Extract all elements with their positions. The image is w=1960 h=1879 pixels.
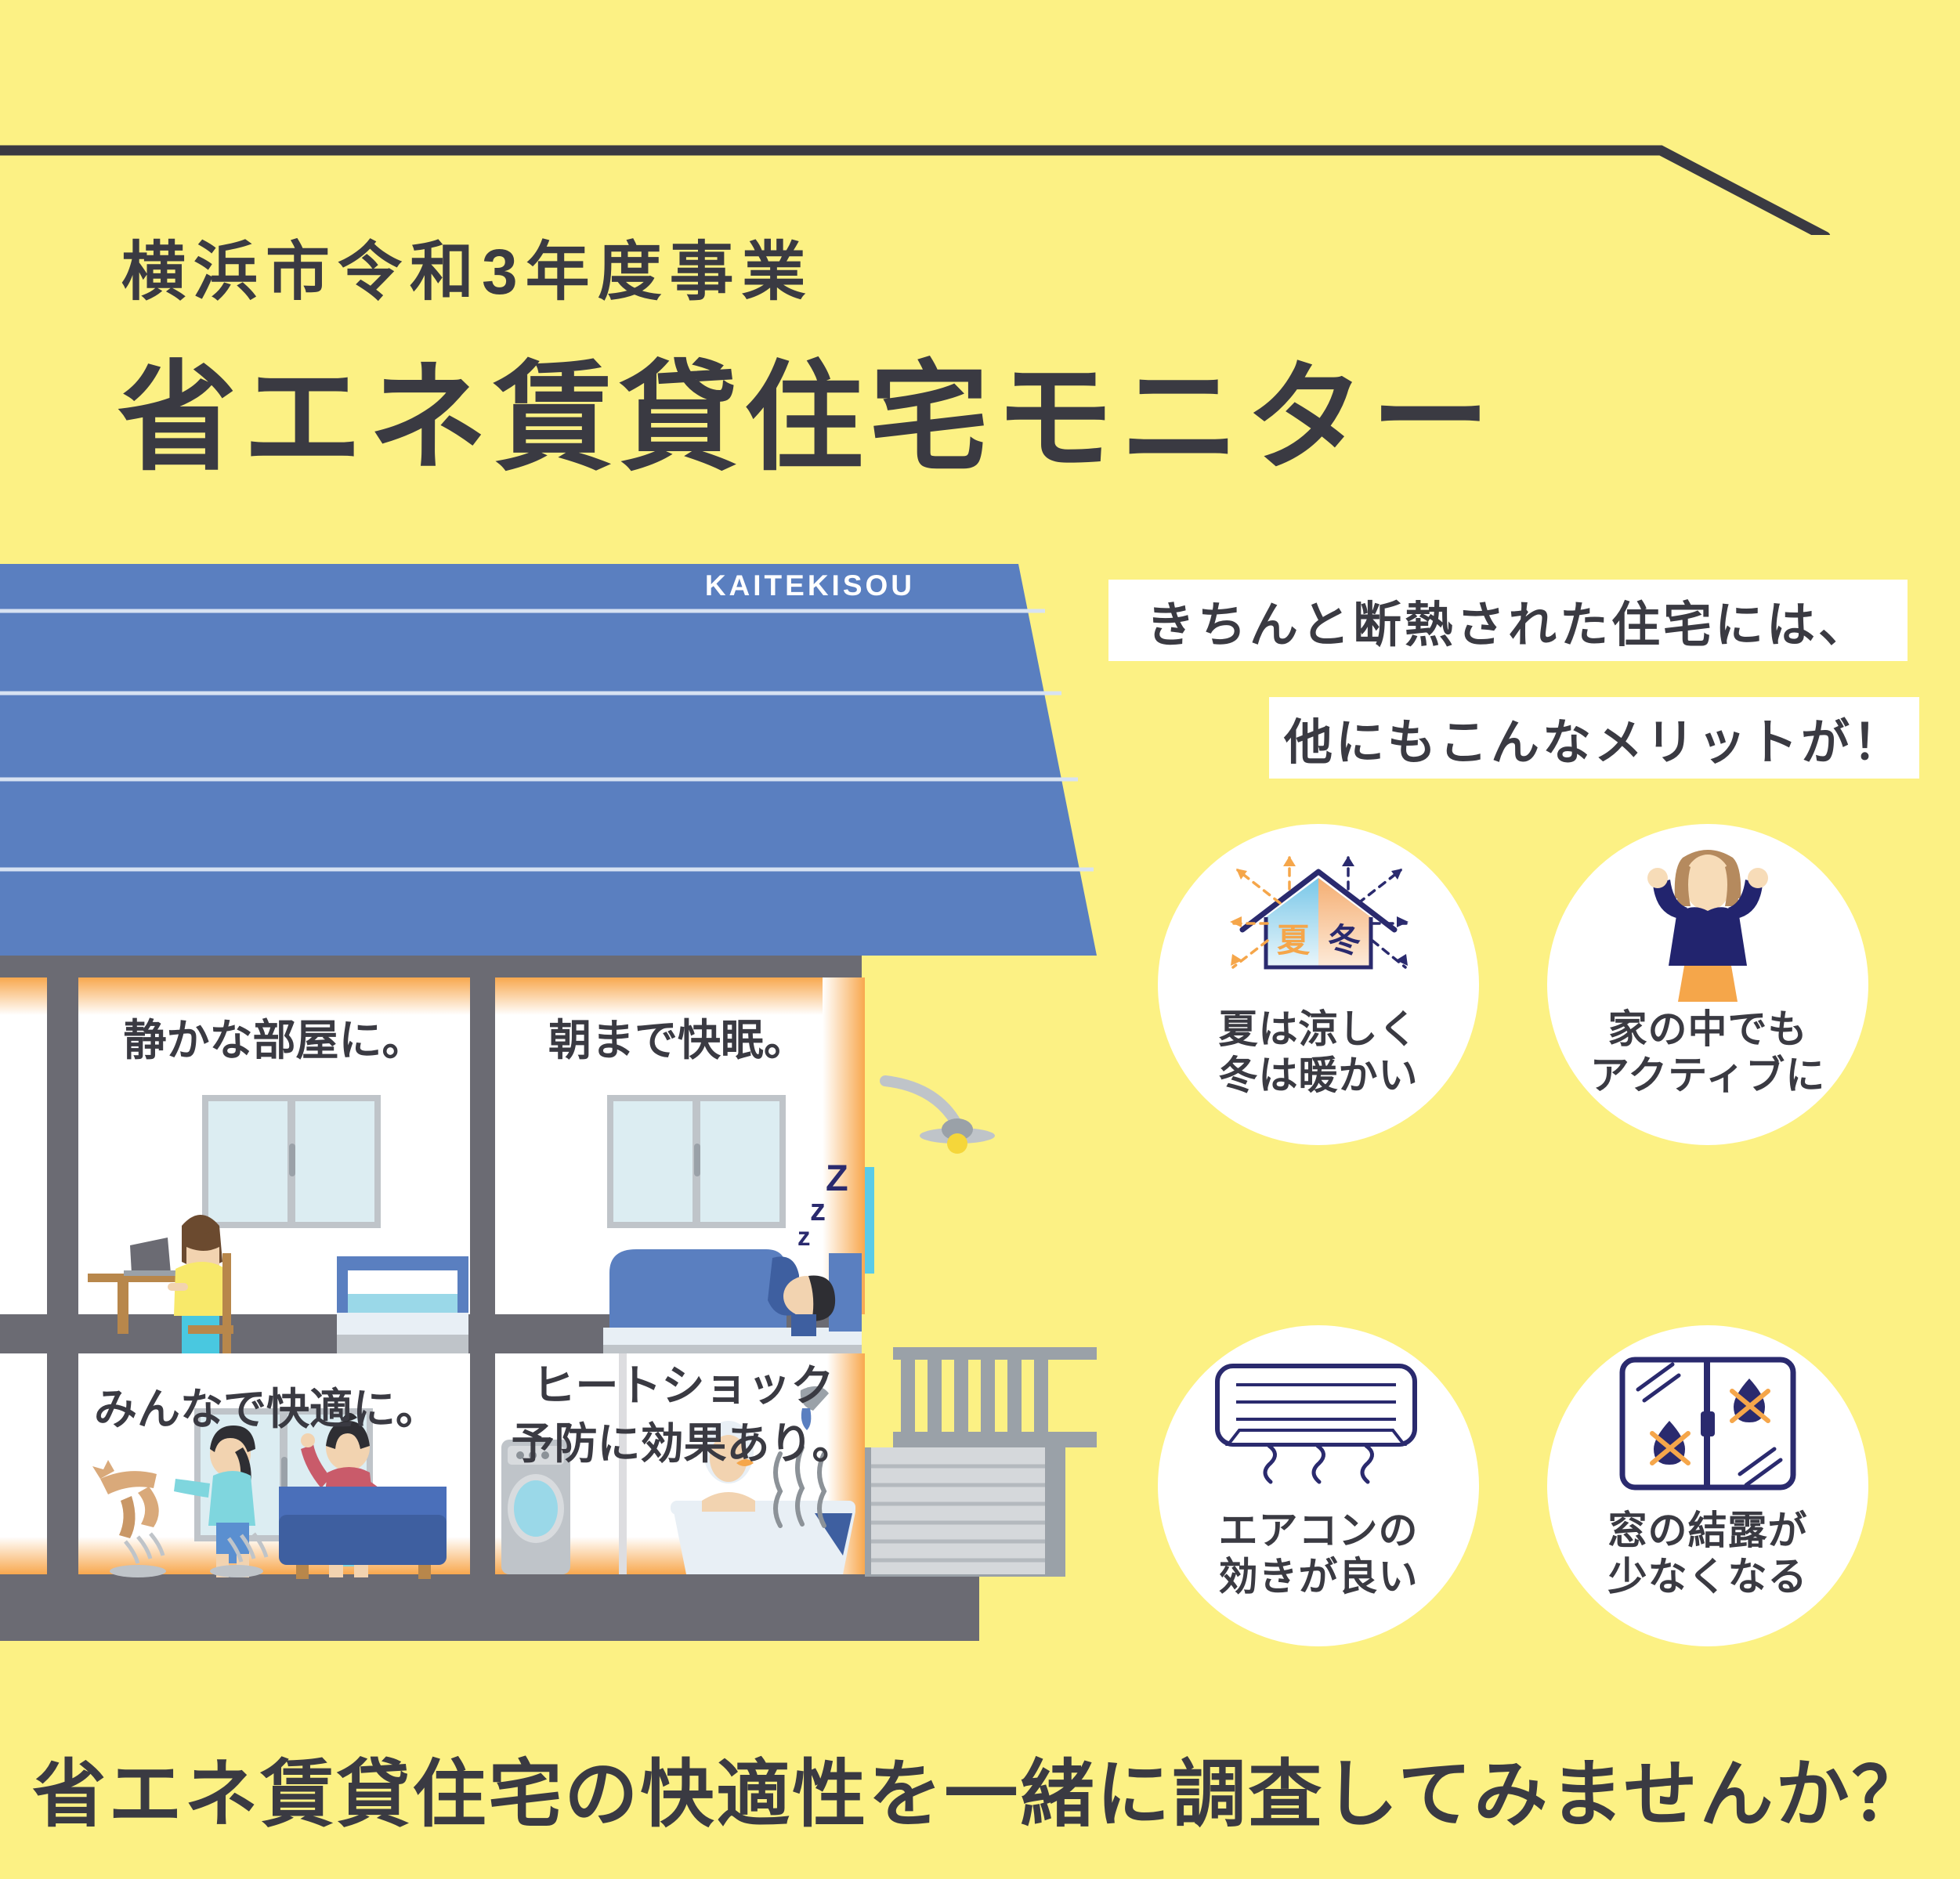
merits-headline-1: きちんと断熱された住宅には、 bbox=[1108, 580, 1908, 661]
room-study-label: 静かな部屋に。 bbox=[123, 1016, 425, 1064]
page-subtitle: 横浜市令和3年度事業 bbox=[121, 219, 814, 313]
house-cutaway-illustration: KAITEKISOU bbox=[0, 564, 1097, 1660]
merit-caption-line2: 冬は暖かい bbox=[1219, 1053, 1419, 1099]
room-living-label: みんなで快適に。 bbox=[94, 1385, 439, 1433]
poster-root: 横浜市令和3年度事業 省エネ賃貸住宅モニター KAITEKISOU bbox=[0, 0, 1960, 1879]
merit-card-condensation[interactable]: 窓の結露が 少なくなる bbox=[1547, 1325, 1868, 1646]
merit-caption-season: 夏は涼しく 冬は暖かい bbox=[1219, 1006, 1419, 1099]
air-conditioner-icon bbox=[1213, 1339, 1424, 1508]
room-bathroom-label-line1: ヒートショック bbox=[532, 1361, 834, 1410]
merits-headline-2: 他にもこんなメリットが！ bbox=[1269, 697, 1919, 779]
room-bathroom-label-line2: 予防に効果あり。 bbox=[512, 1419, 855, 1468]
merit-caption-line2: 少なくなる bbox=[1608, 1554, 1808, 1600]
svg-text:Z: Z bbox=[826, 1157, 848, 1198]
room-bathroom: ヒートショック 予防に効果あり。 bbox=[495, 1353, 865, 1574]
exterior-siding bbox=[865, 1447, 1065, 1577]
merit-card-season[interactable]: 夏 冬 夏は涼しく 冬は暖かい bbox=[1158, 824, 1479, 1145]
season-label-summer: 夏 bbox=[1277, 922, 1311, 959]
footer-cta: 省エネ賃貸住宅の快適性を一緒に調査してみませんか？ bbox=[0, 1735, 1960, 1841]
merit-caption-aircon: エアコンの 効きが良い bbox=[1219, 1508, 1419, 1600]
person-active-icon bbox=[1622, 838, 1794, 1006]
merit-card-aircon[interactable]: エアコンの 効きが良い bbox=[1158, 1325, 1479, 1646]
light-strip-upper bbox=[865, 1167, 874, 1274]
page-title: 省エネ賃貸住宅モニター bbox=[118, 321, 1496, 493]
merit-caption-line2: アクティブに bbox=[1590, 1053, 1826, 1099]
house-season-icon: 夏 冬 bbox=[1205, 838, 1432, 1006]
outdoor-lamp-icon bbox=[885, 1081, 995, 1154]
merit-caption-line2: 効きが良い bbox=[1219, 1554, 1419, 1600]
balcony-railing bbox=[893, 1347, 1097, 1447]
room-bedroom-label: 朝まで快眠。 bbox=[548, 1016, 807, 1064]
merit-card-active[interactable]: 家の中でも アクティブに bbox=[1547, 824, 1868, 1145]
merit-caption-condensation: 窓の結露が 少なくなる bbox=[1608, 1508, 1808, 1600]
merit-caption-line1: エアコンの bbox=[1219, 1508, 1419, 1554]
season-label-winter: 冬 bbox=[1328, 922, 1361, 959]
merit-caption-active: 家の中でも アクティブに bbox=[1590, 1006, 1826, 1099]
roof-brand-label: KAITEKISOU bbox=[705, 569, 915, 602]
window-no-condensation-icon bbox=[1618, 1339, 1798, 1508]
merit-caption-line1: 窓の結露が bbox=[1608, 1508, 1808, 1554]
merit-caption-line1: 夏は涼しく bbox=[1219, 1006, 1419, 1053]
svg-text:z: z bbox=[810, 1193, 826, 1227]
zzz-icon: z bbox=[797, 1222, 811, 1251]
merit-caption-line1: 家の中でも bbox=[1590, 1006, 1826, 1053]
roof: KAITEKISOU bbox=[0, 564, 1097, 956]
